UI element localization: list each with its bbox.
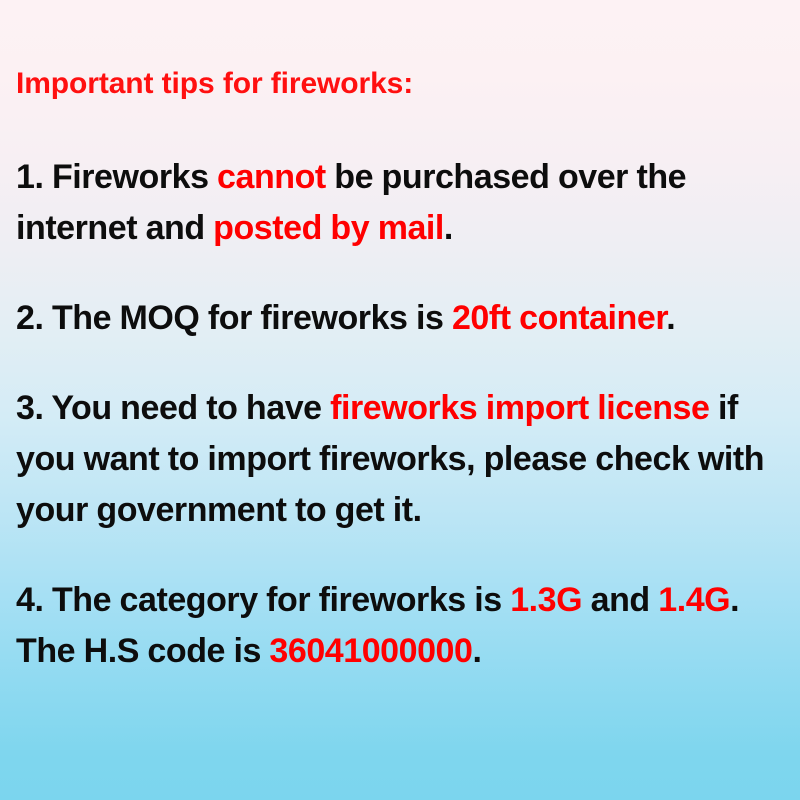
highlighted-text: 20ft container xyxy=(452,299,666,337)
body-text: and xyxy=(582,581,658,619)
highlighted-text: 1.3G xyxy=(510,581,582,619)
highlighted-text: posted by mail xyxy=(213,209,444,247)
highlighted-text: cannot xyxy=(217,158,326,196)
body-text: 3. You need to have xyxy=(16,389,330,427)
notice-tip-item: 3. You need to have fireworks import lic… xyxy=(16,383,788,536)
fireworks-notice-card: Important tips for fireworks: 1. Firewor… xyxy=(0,0,800,800)
body-text: 4. The category for fireworks is xyxy=(16,581,510,619)
body-text: . xyxy=(666,299,675,337)
notice-tips-list: 1. Fireworks cannot be purchased over th… xyxy=(16,152,788,677)
body-text: . xyxy=(472,632,481,670)
notice-tip-item: 1. Fireworks cannot be purchased over th… xyxy=(16,152,788,254)
body-text: 1. Fireworks xyxy=(16,158,217,196)
body-text: 2. The MOQ for fireworks is xyxy=(16,299,452,337)
body-text: . xyxy=(444,209,453,247)
page-title: Important tips for fireworks: xyxy=(16,66,413,102)
notice-tip-item: 4. The category for fireworks is 1.3G an… xyxy=(16,575,788,677)
highlighted-text: fireworks import license xyxy=(330,389,709,427)
highlighted-text: 1.4G xyxy=(658,581,730,619)
notice-tip-item: 2. The MOQ for fireworks is 20ft contain… xyxy=(16,293,788,344)
highlighted-text: 36041000000 xyxy=(269,632,472,670)
